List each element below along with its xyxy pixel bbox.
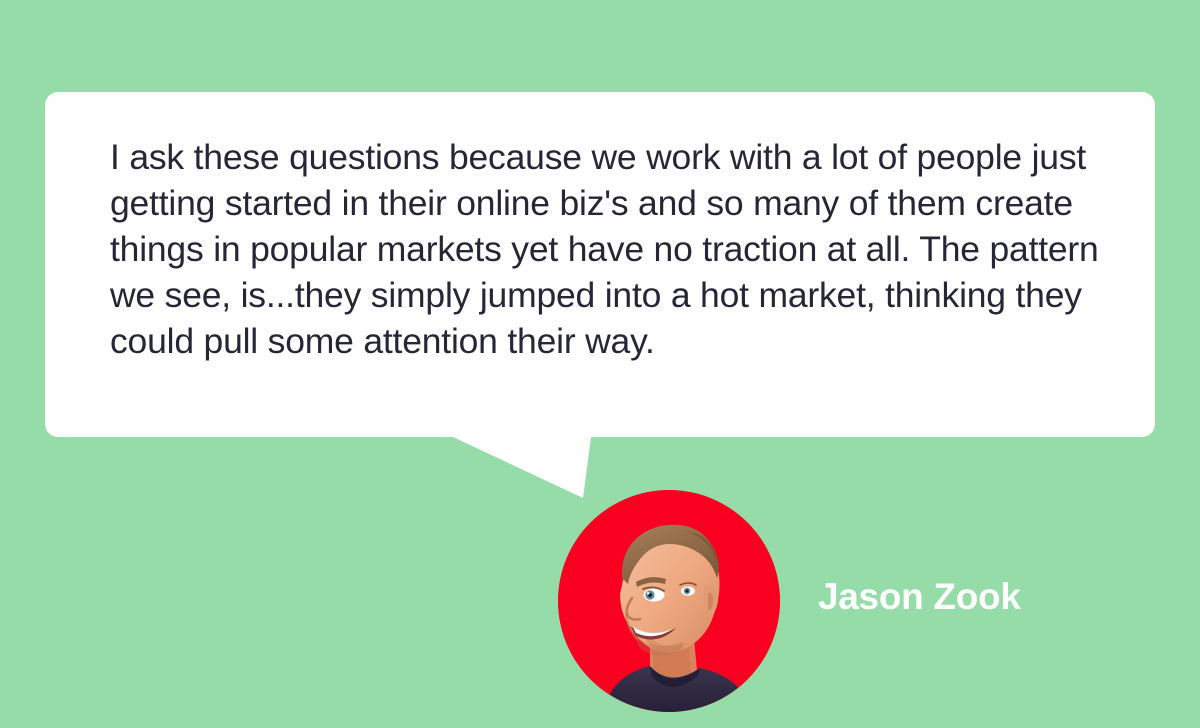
speech-bubble-tail-shape <box>430 430 600 505</box>
avatar-portrait-icon <box>558 490 780 712</box>
quote-text: I ask these questions because we work wi… <box>110 134 1110 364</box>
speaker-name: Jason Zook <box>818 576 1021 618</box>
avatar <box>558 490 780 712</box>
speech-bubble-tail <box>430 430 600 505</box>
quote-card: I ask these questions because we work wi… <box>45 92 1155 437</box>
quote-graphic: I ask these questions because we work wi… <box>0 0 1200 728</box>
